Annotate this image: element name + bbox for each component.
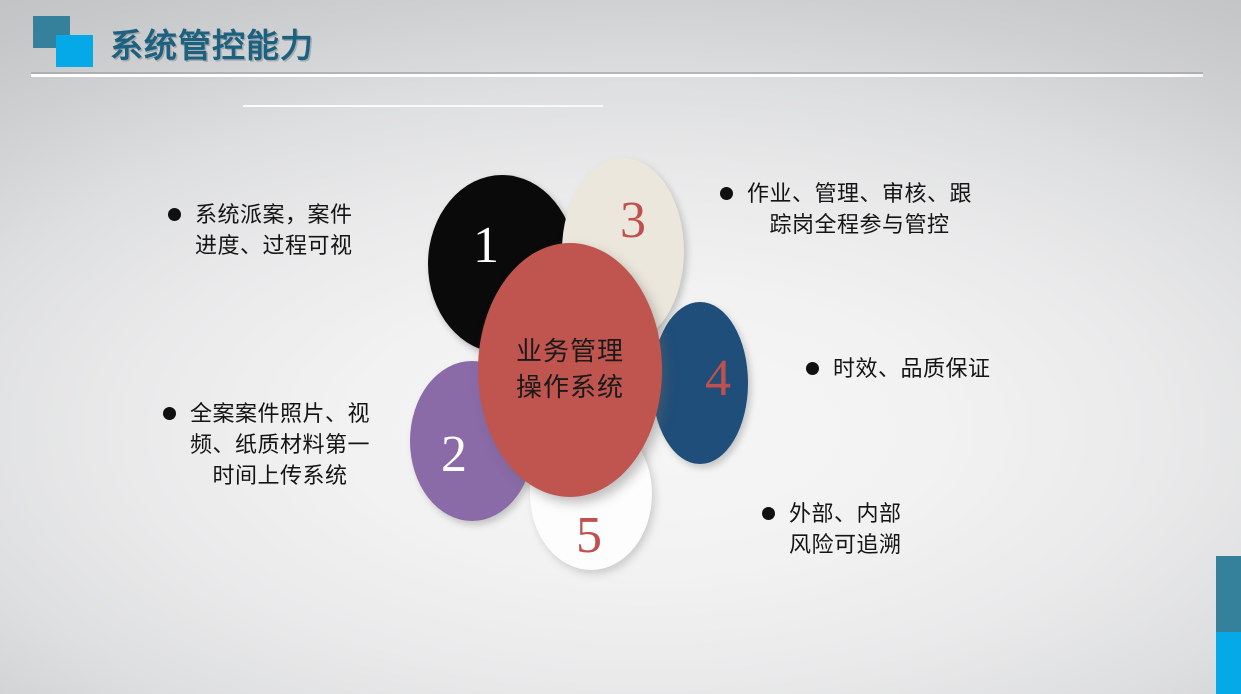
bullet-icon [163, 407, 176, 420]
callout-3-text: 作业、管理、审核、跟 踪岗全程参与管控 [747, 178, 972, 240]
callout-2: 全案案件照片、视 频、纸质材料第一 时间上传系统 [163, 398, 418, 492]
diagram-core[interactable]: 业务管理 操作系统 [478, 243, 662, 497]
callout-5-text: 外部、内部 风险可追溯 [789, 498, 902, 560]
bullet-icon [720, 187, 733, 200]
callout-4-text: 时效、品质保证 [833, 353, 991, 384]
petal-diagram: 1 3 4 2 5 业务管理 操作系统 [0, 0, 1241, 694]
callout-1-text: 系统派案，案件 进度、过程可视 [195, 199, 353, 261]
callout-4: 时效、品质保证 [806, 353, 1056, 384]
callout-2-text: 全案案件照片、视 频、纸质材料第一 时间上传系统 [190, 398, 370, 492]
bullet-icon [168, 208, 181, 221]
petal-1-number: 1 [473, 220, 499, 272]
bullet-icon [762, 507, 775, 520]
callout-3: 作业、管理、审核、跟 踪岗全程参与管控 [720, 178, 1040, 240]
callout-5: 外部、内部 风险可追溯 [762, 498, 1002, 560]
bullet-icon [806, 362, 819, 375]
petal-5-number: 5 [576, 510, 602, 562]
core-label-line-1: 业务管理 [516, 335, 624, 369]
core-label-line-2: 操作系统 [516, 371, 624, 405]
petal-4-number: 4 [705, 353, 731, 405]
petal-2-number: 2 [441, 429, 467, 481]
petal-3-number: 3 [620, 195, 646, 247]
callout-1: 系统派案，案件 进度、过程可视 [168, 199, 413, 261]
petal-4[interactable]: 4 [652, 302, 748, 464]
